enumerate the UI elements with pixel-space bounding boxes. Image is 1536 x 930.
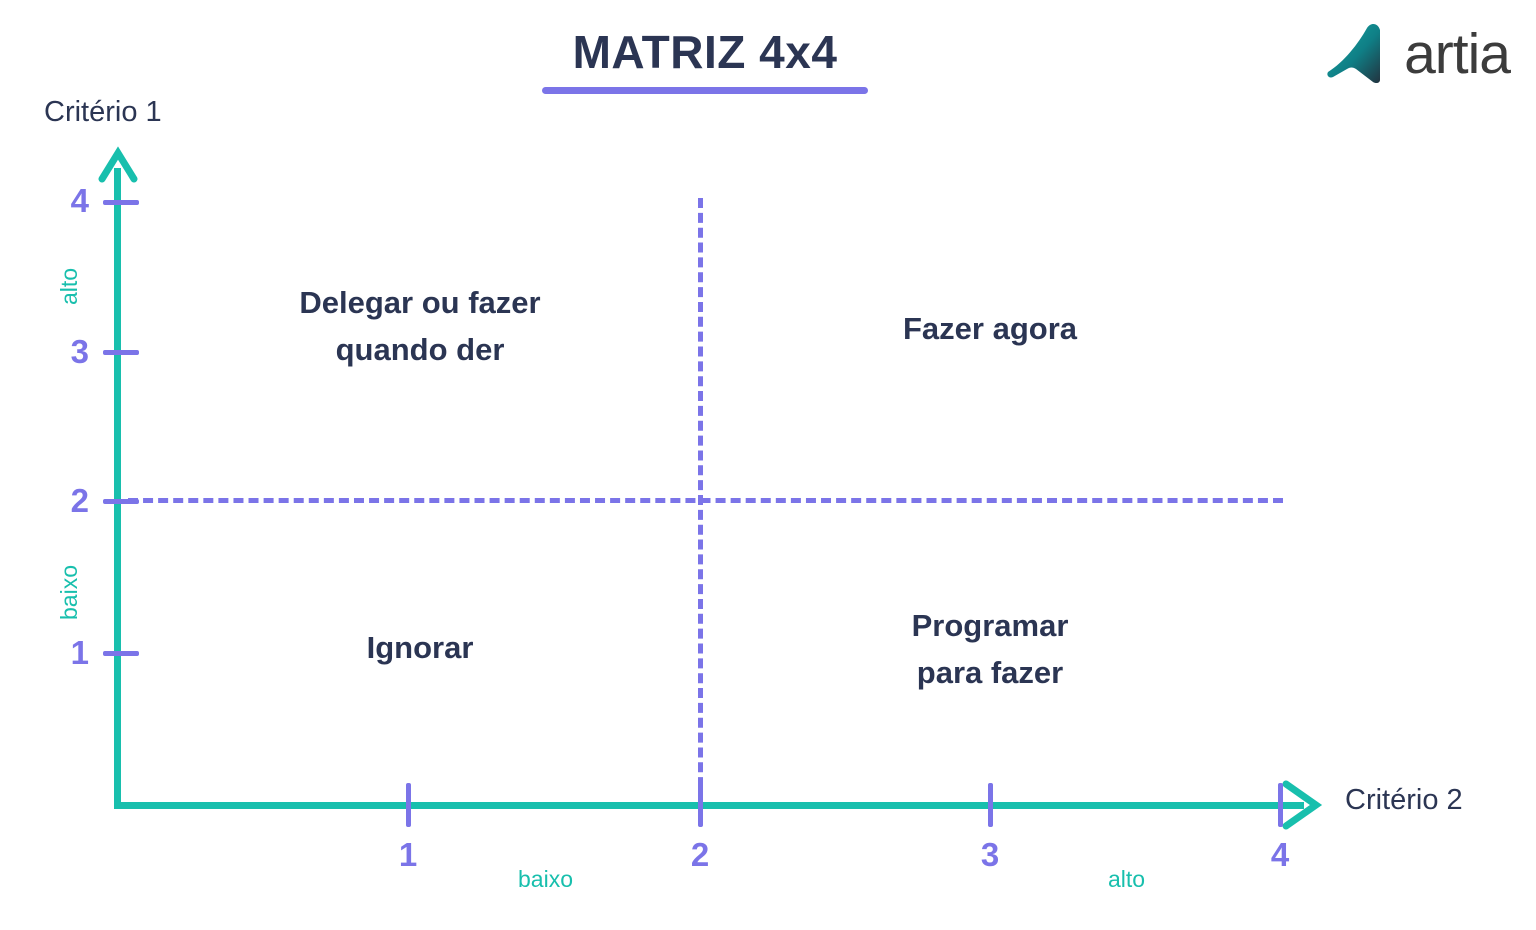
quadrant-label-bottom-left: Ignorar [180, 625, 660, 672]
x-axis-line [114, 802, 1304, 809]
x-scale-word-high: alto [1108, 868, 1145, 891]
matrix-diagram-canvas: MATRIZ 4x4 artia Critério 1 [0, 0, 1536, 930]
title-block: MATRIZ 4x4 [0, 28, 1410, 94]
x-tick-mark-1 [406, 783, 411, 827]
y-axis-title: Critério 1 [44, 96, 162, 129]
y-tick-mark-3 [103, 350, 139, 355]
artia-arrow-icon [1326, 22, 1398, 89]
y-axis-arrow-icon [98, 145, 138, 192]
x-axis-title: Critério 2 [1345, 784, 1463, 817]
artia-logo: artia [1326, 22, 1510, 89]
quadrant-label-bottom-right: Programar para fazer [745, 603, 1235, 696]
vertical-divider-dashed [698, 198, 703, 802]
x-tick-label-3: 3 [970, 838, 1010, 871]
quadrant-label-top-right: Fazer agora [745, 306, 1235, 353]
y-tick-label-2: 2 [55, 484, 89, 517]
quadrant-label-top-left: Delegar ou fazer quando der [180, 280, 660, 373]
page-title: MATRIZ 4x4 [573, 28, 838, 76]
y-tick-mark-1 [103, 651, 139, 656]
y-tick-label-3: 3 [55, 335, 89, 368]
x-tick-label-1: 1 [388, 838, 428, 871]
x-axis-arrow-icon [1280, 779, 1326, 836]
y-scale-word-high: alto [58, 268, 81, 305]
y-tick-label-1: 1 [55, 636, 89, 669]
x-tick-mark-4 [1278, 783, 1283, 827]
x-tick-label-4: 4 [1260, 838, 1300, 871]
x-tick-label-2: 2 [680, 838, 720, 871]
artia-wordmark: artia [1404, 26, 1510, 83]
horizontal-divider-dashed [128, 498, 1283, 503]
x-tick-mark-3 [988, 783, 993, 827]
y-scale-word-low: baixo [58, 565, 81, 620]
y-tick-label-4: 4 [55, 184, 89, 217]
y-tick-mark-4 [103, 200, 139, 205]
x-scale-word-low: baixo [518, 868, 573, 891]
title-underline [542, 87, 868, 94]
y-axis-line [114, 168, 121, 809]
